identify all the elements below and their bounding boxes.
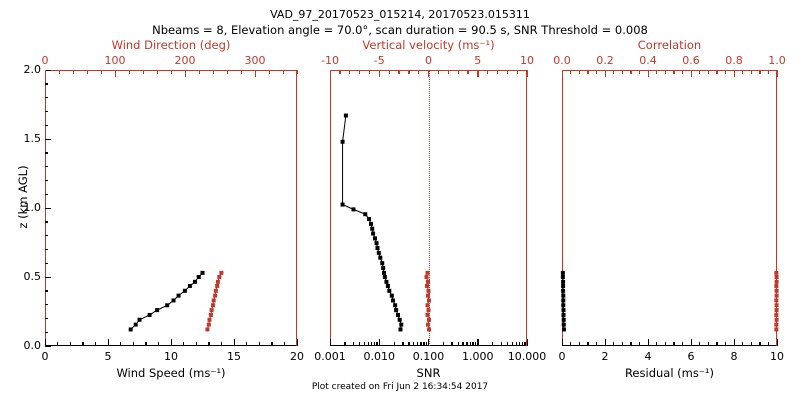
x-axis-minor-tick — [208, 342, 209, 346]
x-axis-minor-tick — [605, 342, 606, 346]
top-axis-minor-tick — [605, 70, 606, 74]
x-axis-minor-tick — [408, 342, 409, 346]
x-axis-minor-tick — [725, 342, 726, 346]
y-axis-minor-tick — [45, 125, 48, 126]
top-axis-minor-tick — [398, 70, 399, 74]
top-axis-minor-tick — [269, 70, 270, 74]
x-axis-tick — [379, 339, 380, 346]
top-axis-minor-tick — [562, 70, 563, 74]
top-axis-minor-tick — [639, 70, 640, 74]
top-axis-minor-tick — [691, 70, 692, 74]
top-axis-tick-label: 200 — [155, 54, 215, 67]
y-axis-tick — [45, 139, 51, 140]
x-axis-minor-tick — [82, 342, 83, 346]
x-axis-minor-tick — [596, 342, 597, 346]
y-axis-minor-tick — [45, 97, 48, 98]
x-axis-minor-tick — [639, 342, 640, 346]
top-axis-minor-tick — [339, 70, 340, 74]
x-axis-minor-tick — [57, 342, 58, 346]
x-axis-minor-tick — [512, 342, 513, 346]
x-axis-minor-tick — [673, 342, 674, 346]
top-axis-tick-label: 1.0 — [747, 54, 800, 67]
x-axis-minor-tick — [221, 342, 222, 346]
top-axis-minor-tick — [716, 70, 717, 74]
x-axis-minor-tick — [466, 342, 467, 346]
x-axis-minor-tick — [95, 342, 96, 346]
x-axis-minor-tick — [716, 342, 717, 346]
x-axis-minor-tick — [364, 342, 365, 346]
x-axis-minor-tick — [519, 342, 520, 346]
x-axis-minor-tick — [622, 342, 623, 346]
x-axis-minor-tick — [451, 342, 452, 346]
x-axis-minor-tick — [751, 342, 752, 346]
y-axis-minor-tick — [45, 249, 48, 250]
top-axis-minor-tick — [699, 70, 700, 74]
top-axis-label: Vertical velocity (ms⁻¹) — [330, 38, 527, 52]
footer-timestamp: Plot created on Fri Jun 2 16:34:54 2017 — [0, 382, 800, 392]
top-axis-minor-tick — [241, 70, 242, 74]
top-axis-minor-tick — [349, 70, 350, 74]
x-axis-minor-tick — [475, 342, 476, 346]
top-axis-minor-tick — [734, 70, 735, 74]
top-axis-minor-tick — [477, 70, 478, 74]
top-axis-minor-tick — [59, 70, 60, 74]
y-axis-tick-label: 1.5 — [8, 132, 41, 145]
x-axis-minor-tick — [458, 342, 459, 346]
x-axis-minor-tick — [492, 342, 493, 346]
top-axis-minor-tick — [199, 70, 200, 74]
x-axis-tick-label: 10 — [141, 350, 201, 363]
x-axis-minor-tick — [259, 342, 260, 346]
x-axis-minor-tick — [402, 342, 403, 346]
x-axis-minor-tick — [70, 342, 71, 346]
top-axis-minor-tick — [768, 70, 769, 74]
x-axis-minor-tick — [699, 342, 700, 346]
x-axis-minor-tick — [462, 342, 463, 346]
x-axis-tick — [477, 339, 478, 346]
top-axis-minor-tick — [115, 70, 116, 74]
top-axis-minor-tick — [587, 70, 588, 74]
y-axis-minor-tick — [45, 83, 48, 84]
top-axis-minor-tick — [527, 70, 528, 74]
top-axis-minor-tick — [408, 70, 409, 74]
x-axis-minor-tick — [376, 342, 377, 346]
top-axis-minor-tick — [297, 70, 298, 74]
top-axis-minor-tick — [665, 70, 666, 74]
x-axis-minor-tick — [284, 342, 285, 346]
x-axis-minor-tick — [759, 342, 760, 346]
top-axis-minor-tick — [613, 70, 614, 74]
x-axis-minor-tick — [234, 342, 235, 346]
x-axis-label: Wind Speed (ms⁻¹) — [45, 366, 297, 380]
x-axis-label: SNR — [330, 366, 527, 380]
top-axis-minor-tick — [708, 70, 709, 74]
top-axis-minor-tick — [143, 70, 144, 74]
top-axis-minor-tick — [73, 70, 74, 74]
x-axis-minor-tick — [613, 342, 614, 346]
x-axis-minor-tick — [145, 342, 146, 346]
x-axis-tick — [527, 339, 528, 346]
x-axis-minor-tick — [246, 342, 247, 346]
top-axis-minor-tick — [742, 70, 743, 74]
y-axis-tick — [45, 70, 51, 71]
top-axis-minor-tick — [448, 70, 449, 74]
x-axis-minor-tick — [423, 342, 424, 346]
y-axis-tick-label: 1.0 — [8, 201, 41, 214]
top-axis-minor-tick — [227, 70, 228, 74]
top-axis-minor-tick — [255, 70, 256, 74]
x-axis-minor-tick — [777, 342, 778, 346]
y-axis-minor-tick — [45, 194, 48, 195]
top-axis-minor-tick — [185, 70, 186, 74]
top-axis-minor-tick — [759, 70, 760, 74]
x-axis-minor-tick — [394, 342, 395, 346]
top-axis-minor-tick — [129, 70, 130, 74]
y-axis-minor-tick — [45, 332, 48, 333]
x-axis-tick-label: 10 — [747, 350, 800, 363]
x-axis-label: Residual (ms⁻¹) — [562, 366, 777, 380]
y-axis-minor-tick — [45, 235, 48, 236]
y-axis-minor-tick — [45, 152, 48, 153]
top-axis-minor-tick — [369, 70, 370, 74]
x-axis-minor-tick — [417, 342, 418, 346]
top-axis-minor-tick — [487, 70, 488, 74]
top-axis-minor-tick — [418, 70, 419, 74]
x-axis-minor-tick — [45, 342, 46, 346]
top-axis-minor-tick — [622, 70, 623, 74]
x-axis-minor-tick — [708, 342, 709, 346]
y-axis-minor-tick — [45, 304, 48, 305]
y-axis-tick — [45, 277, 51, 278]
x-axis-tick — [330, 339, 331, 346]
x-axis-minor-tick — [682, 342, 683, 346]
x-axis-minor-tick — [420, 342, 421, 346]
top-axis-label: Wind Direction (deg) — [45, 38, 297, 52]
top-axis-minor-tick — [213, 70, 214, 74]
x-axis-minor-tick — [371, 342, 372, 346]
x-axis-tick-label: 5 — [78, 350, 138, 363]
x-axis-minor-tick — [443, 342, 444, 346]
top-axis-tick-label: 0 — [15, 54, 75, 67]
x-axis-minor-tick — [368, 342, 369, 346]
x-axis-minor-tick — [501, 342, 502, 346]
top-axis-minor-tick — [656, 70, 657, 74]
x-axis-minor-tick — [587, 342, 588, 346]
x-axis-minor-tick — [734, 342, 735, 346]
x-axis-minor-tick — [562, 342, 563, 346]
y-axis-tick-label: 0.5 — [8, 270, 41, 283]
top-axis-tick-label: 300 — [225, 54, 285, 67]
x-axis-minor-tick — [524, 342, 525, 346]
top-axis-minor-tick — [283, 70, 284, 74]
x-axis-minor-tick — [183, 342, 184, 346]
x-axis-minor-tick — [472, 342, 473, 346]
x-axis-minor-tick — [120, 342, 121, 346]
x-axis-minor-tick — [171, 342, 172, 346]
top-axis-minor-tick — [87, 70, 88, 74]
x-axis-minor-tick — [158, 342, 159, 346]
x-axis-minor-tick — [353, 342, 354, 346]
top-axis-minor-tick — [330, 70, 331, 74]
y-axis-minor-tick — [45, 166, 48, 167]
top-axis-minor-tick — [725, 70, 726, 74]
top-axis-minor-tick — [497, 70, 498, 74]
y-axis-minor-tick — [45, 111, 48, 112]
top-axis-minor-tick — [379, 70, 380, 74]
x-axis-tick-label: 0 — [15, 350, 75, 363]
x-axis-minor-tick — [656, 342, 657, 346]
top-axis-minor-tick — [517, 70, 518, 74]
x-axis-tick-label: 15 — [204, 350, 264, 363]
x-axis-minor-tick — [570, 342, 571, 346]
top-axis-minor-tick — [467, 70, 468, 74]
top-axis-minor-tick — [438, 70, 439, 74]
y-axis-minor-tick — [45, 221, 48, 222]
top-axis-minor-tick — [458, 70, 459, 74]
x-axis-minor-tick — [271, 342, 272, 346]
x-axis-minor-tick — [768, 342, 769, 346]
y-axis-minor-tick — [45, 180, 48, 181]
y-axis-minor-tick — [45, 263, 48, 264]
top-axis-minor-tick — [101, 70, 102, 74]
x-axis-minor-tick — [579, 342, 580, 346]
top-axis-minor-tick — [359, 70, 360, 74]
x-axis-minor-tick — [133, 342, 134, 346]
top-axis-minor-tick — [507, 70, 508, 74]
y-axis-minor-tick — [45, 290, 48, 291]
x-axis-minor-tick — [359, 342, 360, 346]
x-axis-minor-tick — [507, 342, 508, 346]
x-axis-minor-tick — [413, 342, 414, 346]
top-axis-minor-tick — [682, 70, 683, 74]
top-axis-minor-tick — [596, 70, 597, 74]
x-axis-minor-tick — [196, 342, 197, 346]
x-axis-minor-tick — [344, 342, 345, 346]
top-axis-minor-tick — [171, 70, 172, 74]
top-axis-minor-tick — [389, 70, 390, 74]
top-axis-minor-tick — [751, 70, 752, 74]
y-axis-tick — [45, 346, 51, 347]
x-axis-minor-tick — [630, 342, 631, 346]
top-axis-minor-tick — [673, 70, 674, 74]
x-axis-minor-tick — [648, 342, 649, 346]
y-axis-minor-tick — [45, 208, 48, 209]
top-axis-tick-label: 100 — [85, 54, 145, 67]
top-axis-minor-tick — [630, 70, 631, 74]
x-axis-minor-tick — [426, 342, 427, 346]
x-axis-minor-tick — [742, 342, 743, 346]
x-axis-minor-tick — [691, 342, 692, 346]
top-axis-minor-tick — [570, 70, 571, 74]
top-axis-label: Correlation — [562, 38, 777, 52]
y-axis-minor-tick — [45, 318, 48, 319]
top-axis-minor-tick — [648, 70, 649, 74]
zero-velocity-line — [429, 70, 430, 346]
x-axis-minor-tick — [522, 342, 523, 346]
x-axis-minor-tick — [470, 342, 471, 346]
x-axis-minor-tick — [665, 342, 666, 346]
x-axis-minor-tick — [297, 342, 298, 346]
top-axis-minor-tick — [157, 70, 158, 74]
x-axis-minor-tick — [516, 342, 517, 346]
x-axis-minor-tick — [374, 342, 375, 346]
top-axis-minor-tick — [45, 70, 46, 74]
top-axis-minor-tick — [777, 70, 778, 74]
top-axis-minor-tick — [579, 70, 580, 74]
x-axis-minor-tick — [108, 342, 109, 346]
